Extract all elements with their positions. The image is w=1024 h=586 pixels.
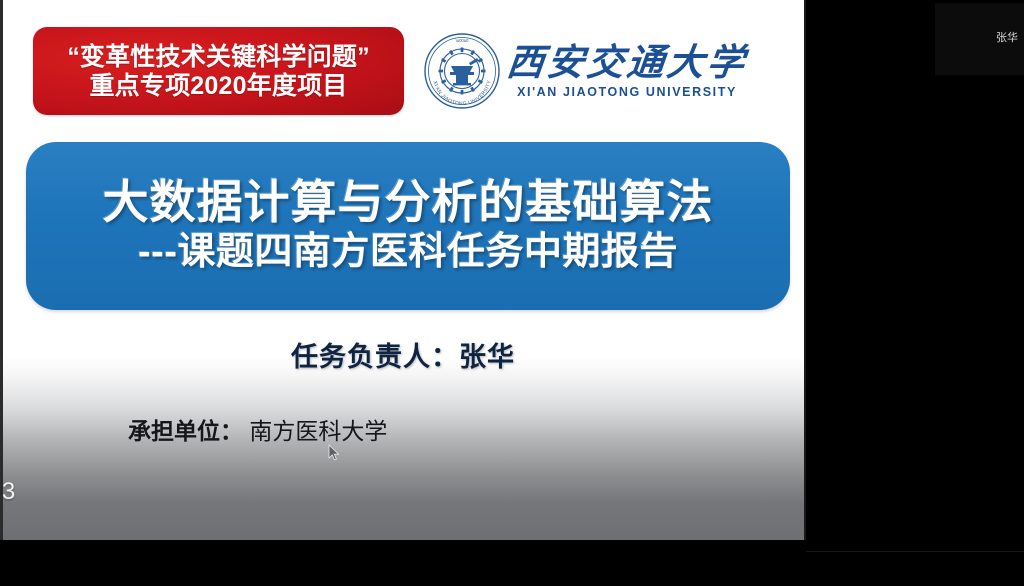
university-logo: \u00a0 XI'AN JIAOTONG UNIVERSITY 西安交通大学 … [423, 28, 735, 114]
slide-left-border [0, 0, 3, 540]
program-banner: “变革性技术关键科学问题” 重点专项2020年度项目 [33, 27, 404, 115]
university-name-en: XI'AN JIAOTONG UNIVERSITY [517, 85, 737, 99]
slide-title-box: 大数据计算与分析的基础算法 ---课题四南方医科任务中期报告 [26, 142, 790, 310]
program-banner-line-1: “变革性技术关键科学问题” [67, 43, 370, 71]
slide-title-subtitle: ---课题四南方医科任务中期报告 [138, 231, 678, 275]
participant-video-tile[interactable]: 张华 [935, 3, 1024, 75]
slide-canvas: “变革性技术关键科学问题” 重点专项2020年度项目 [0, 0, 806, 540]
meeting-screen-share-window: “变革性技术关键科学问题” 重点专项2020年度项目 [0, 0, 1024, 586]
undertaking-unit-value: 南方医科大学 [249, 418, 387, 444]
panel-divider [806, 551, 1024, 552]
slide-right-border [804, 0, 806, 540]
program-banner-line-2: 重点专项2020年度项目 [89, 72, 347, 100]
presenter-line: 任务负责人：张华 [0, 335, 806, 374]
undertaking-unit-line: 承担单位： 南方医科大学 [128, 412, 387, 446]
svg-text:\u00a0: \u00a0 [456, 38, 469, 43]
university-name-cn: 西安交通大学 [505, 43, 749, 82]
shared-slide-viewport[interactable]: “变革性技术关键科学问题” 重点专项2020年度项目 [0, 0, 806, 540]
university-wordmark: 西安交通大学 XI'AN JIAOTONG UNIVERSITY [507, 43, 747, 99]
slide-title-main: 大数据计算与分析的基础算法 [103, 177, 714, 229]
undertaking-unit-label: 承担单位： [128, 418, 243, 444]
participant-video-panel: 张华 [806, 0, 1024, 586]
participant-name-label: 张华 [996, 29, 1018, 45]
university-seal-icon: \u00a0 XI'AN JIAOTONG UNIVERSITY [423, 32, 501, 110]
